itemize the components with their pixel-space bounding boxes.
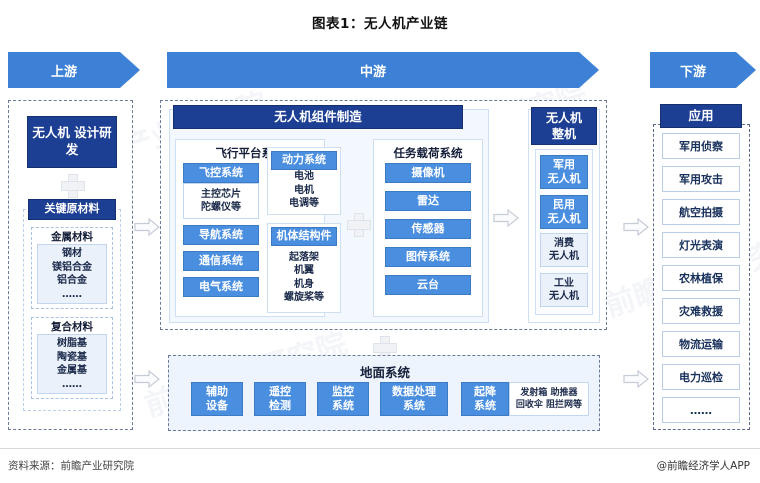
flight-control-system-box: 飞控系统 xyxy=(183,163,259,183)
flow-arrow-upstream-to-ground xyxy=(134,370,160,388)
downstream-container: 军用侦察 军用攻击 航空拍摄 灯光表演 农林植保 灾难救援 物流运输 电力巡检 … xyxy=(653,124,750,430)
stage-banner-downstream: 下游 xyxy=(650,52,736,88)
application-item-logistics: 物流运输 xyxy=(662,331,740,357)
application-item-power-inspection: 电力巡检 xyxy=(662,364,740,390)
application-item-military-recon: 军用侦察 xyxy=(662,133,740,159)
whole-machine-header: 无人机 整机 xyxy=(531,107,597,145)
power-system-box: 动力系统 xyxy=(271,151,337,170)
payload-item-image-transmission: 图传系统 xyxy=(385,247,471,267)
upstream-container: 无人机 设计研发 关键原材料 金属材料 钢材 镁铝合金 铝合金 …… 复合材料 … xyxy=(8,100,133,430)
payload-item-camera: 摄像机 xyxy=(385,163,471,183)
ground-item-monitoring-system: 监控 系统 xyxy=(317,382,369,416)
airframe-structure-box: 机体结构件 xyxy=(271,227,337,246)
plus-connector-icon xyxy=(61,174,83,196)
chart-title: 图表1：无人机产业链 xyxy=(0,12,760,32)
airframe-items: 起落架 机翼 机身 螺旋桨等 xyxy=(271,246,337,309)
civil-drone-box: 民用 无人机 xyxy=(540,195,588,229)
ground-item-remote-control: 遥控 检测 xyxy=(254,382,306,416)
stage-banner-midstream: 中游 xyxy=(167,52,579,88)
navigation-system-box: 导航系统 xyxy=(183,225,259,245)
flight-control-items: 主控芯片 陀螺仪等 xyxy=(183,183,259,219)
drone-design-rnd-box: 无人机 设计研发 xyxy=(27,116,117,168)
payload-item-gimbal: 云台 xyxy=(385,275,471,295)
consumer-drone-box: 消费 无人机 xyxy=(540,233,588,267)
flow-arrow-ground-to-downstream xyxy=(623,370,649,388)
components-manufacturing-header: 无人机组件制造 xyxy=(173,105,463,129)
ground-item-launch-recovery: 起降 系统 xyxy=(461,382,509,416)
military-drone-box: 军用 无人机 xyxy=(540,155,588,189)
application-item-more: …… xyxy=(662,397,740,423)
flow-arrow-midstream-to-downstream xyxy=(623,218,649,236)
launch-recovery-detail: 发射箱 助推器 回收伞 阻拦网等 xyxy=(509,382,589,416)
ground-system-title: 地面系统 xyxy=(169,362,601,381)
payload-item-radar: 雷达 xyxy=(385,191,471,211)
payload-item-sensor: 传感器 xyxy=(385,219,471,239)
composite-materials-label: 复合材料 xyxy=(31,319,113,334)
key-raw-materials-header: 关键原材料 xyxy=(28,199,116,220)
flow-arrow-upstream-to-midstream xyxy=(134,218,160,236)
application-header: 应用 xyxy=(660,104,742,128)
flow-arrow-components-to-whole-machine xyxy=(493,209,519,227)
composite-materials-items: 树脂基 陶瓷基 金属基 …… xyxy=(37,334,107,394)
footer-divider xyxy=(0,448,760,449)
application-item-disaster-rescue: 灾难救援 xyxy=(662,298,740,324)
stage-banner-upstream: 上游 xyxy=(8,52,120,88)
payload-system-title: 任务载荷系统 xyxy=(373,145,483,161)
electrical-system-box: 电气系统 xyxy=(183,277,259,297)
ground-system-container: 地面系统 辅助 设备 遥控 检测 监控 系统 数据处理 系统 起降 系统 发射箱… xyxy=(168,355,600,431)
ground-item-auxiliary-equipment: 辅助 设备 xyxy=(191,382,243,416)
application-item-agriculture: 农林植保 xyxy=(662,265,740,291)
application-item-light-show: 灯光表演 xyxy=(662,232,740,258)
metal-materials-items: 钢材 镁铝合金 铝合金 …… xyxy=(37,244,107,304)
power-system-items: 电池 电机 电调等 xyxy=(271,170,337,211)
communication-system-box: 通信系统 xyxy=(183,251,259,271)
industry-chain-diagram: 前瞻产业研究院 前瞻产业研究院 前瞻产业研究院 前瞻产业研究院 图表1：无人机产… xyxy=(0,0,760,483)
plus-connector-icon-mid xyxy=(347,213,369,235)
application-item-military-attack: 军用攻击 xyxy=(662,166,740,192)
ground-item-data-processing: 数据处理 系统 xyxy=(380,382,448,416)
attribution-label: @前瞻经济学人APP xyxy=(657,458,750,473)
industrial-drone-box: 工业 无人机 xyxy=(540,273,588,307)
application-item-aerial-photography: 航空拍摄 xyxy=(662,199,740,225)
midstream-container: 无人机组件制造 飞行平台系统 飞控系统 主控芯片 陀螺仪等 导航系统 通信系统 … xyxy=(160,100,607,330)
source-label: 资料来源：前瞻产业研究院 xyxy=(8,458,134,473)
metal-materials-label: 金属材料 xyxy=(31,229,113,244)
